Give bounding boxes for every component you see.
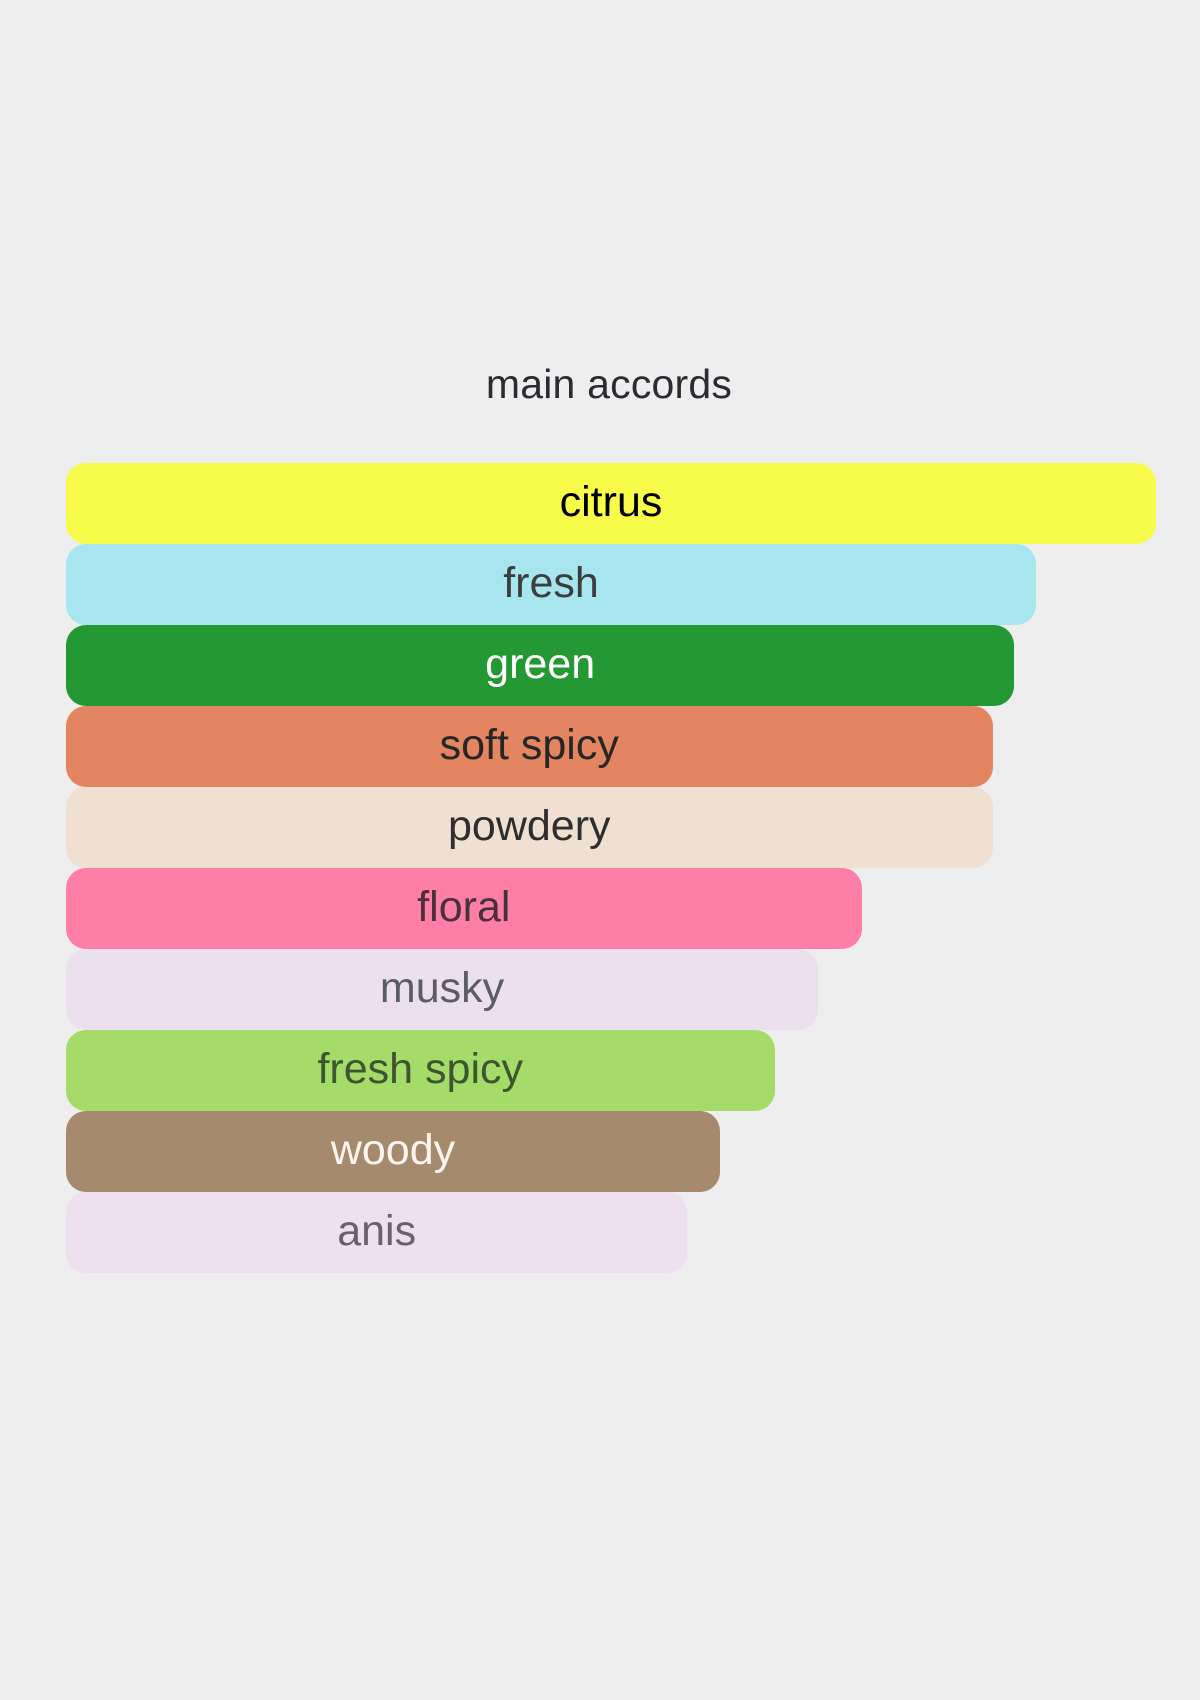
accord-bar-row: woody	[66, 1111, 1156, 1192]
accord-bar-label: musky	[380, 967, 504, 1010]
accord-bar-label: green	[485, 643, 595, 686]
accord-bar-row: fresh	[66, 544, 1156, 625]
accord-bar-row: soft spicy	[66, 706, 1156, 787]
page-title: main accords	[0, 364, 1200, 429]
accord-bar-label: floral	[417, 886, 510, 929]
accord-bar[interactable]: woody	[66, 1111, 720, 1192]
accord-bar[interactable]: green	[66, 625, 1014, 706]
accord-bar-label: citrus	[560, 481, 663, 524]
accord-bar-row: floral	[66, 868, 1156, 949]
accord-bar[interactable]: fresh spicy	[66, 1030, 775, 1111]
main-accords-widget: main accords citrusfreshgreensoft spicyp…	[0, 330, 1200, 1273]
accord-bar-label: fresh	[503, 562, 599, 605]
accord-bar[interactable]: anis	[66, 1192, 687, 1273]
accord-bar-row: powdery	[66, 787, 1156, 868]
accord-bar-label: fresh spicy	[317, 1048, 523, 1091]
accord-bar-list: citrusfreshgreensoft spicypowderyfloralm…	[66, 463, 1156, 1273]
accord-bar-row: fresh spicy	[66, 1030, 1156, 1111]
accord-bar-label: powdery	[448, 805, 611, 848]
accord-bar[interactable]: powdery	[66, 787, 993, 868]
accord-bar-row: citrus	[66, 463, 1156, 544]
accord-bar[interactable]: soft spicy	[66, 706, 993, 787]
accord-bar[interactable]: citrus	[66, 463, 1156, 544]
accord-bar-label: soft spicy	[440, 724, 619, 767]
page-root: main accords citrusfreshgreensoft spicyp…	[0, 0, 1200, 1700]
accord-bar-label: anis	[337, 1210, 416, 1253]
accord-bar[interactable]: fresh	[66, 544, 1036, 625]
accord-bar-label: woody	[331, 1129, 455, 1172]
accord-bar-row: green	[66, 625, 1156, 706]
accord-bar-row: anis	[66, 1192, 1156, 1273]
accord-bar-row: musky	[66, 949, 1156, 1030]
accord-bar[interactable]: floral	[66, 868, 862, 949]
accord-bar[interactable]: musky	[66, 949, 818, 1030]
